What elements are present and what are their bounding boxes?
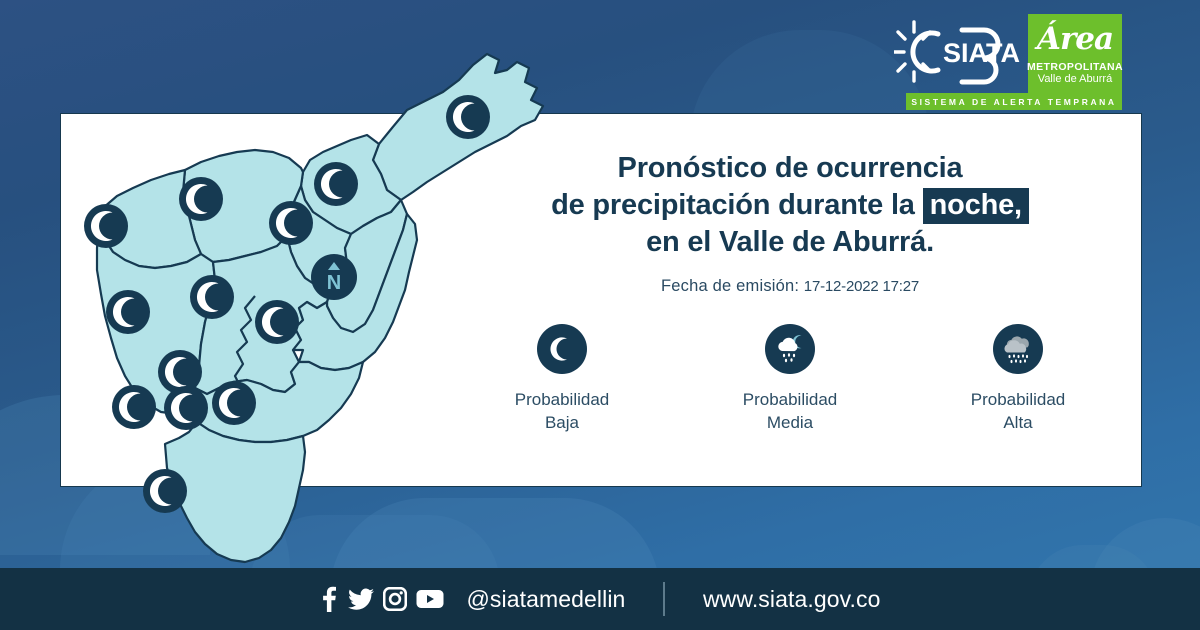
area-metropolitana-logo: Área METROPOLITANA Valle de Aburrá bbox=[1028, 14, 1122, 96]
legend-item-media: Probabilidad Media bbox=[715, 324, 865, 434]
legend-label-media: Probabilidad Media bbox=[743, 388, 838, 434]
twitter-icon[interactable] bbox=[348, 586, 374, 612]
probability-legend: Probabilidad Baja bbox=[470, 324, 1110, 434]
infographic-canvas: SIATA Área METROPOLITANA Valle de Aburrá… bbox=[0, 0, 1200, 630]
legend-label-line1: Probabilidad bbox=[743, 388, 838, 411]
map-marker-copacabana[interactable] bbox=[269, 201, 313, 245]
siata-logo: SIATA bbox=[894, 14, 1022, 92]
legend-label-line1: Probabilidad bbox=[971, 388, 1066, 411]
title-highlight-noche: noche, bbox=[923, 188, 1029, 224]
svg-text:SIATA: SIATA bbox=[943, 38, 1020, 68]
issue-date-value: 17-12-2022 17:27 bbox=[804, 278, 919, 295]
title-line-1: Pronóstico de ocurrencia bbox=[470, 150, 1110, 187]
social-handle[interactable]: @siatamedellin bbox=[466, 586, 625, 613]
title-line-2: de precipitación durante la noche, bbox=[470, 187, 1110, 224]
social-icon-group bbox=[319, 586, 444, 612]
compass-label: N bbox=[327, 272, 341, 294]
siata-tagline-banner: SISTEMA DE ALERTA TEMPRANA bbox=[906, 93, 1122, 110]
legend-label-line2: Media bbox=[743, 411, 838, 434]
moon-icon bbox=[537, 324, 587, 374]
map-marker-la-estrella[interactable] bbox=[164, 386, 208, 430]
youtube-icon[interactable] bbox=[416, 588, 444, 610]
map-marker-girardota[interactable] bbox=[314, 162, 358, 206]
logo-group: SIATA Área METROPOLITANA Valle de Aburrá bbox=[894, 14, 1122, 96]
cloud-rain-moon-icon bbox=[765, 324, 815, 374]
forecast-panel: Pronóstico de ocurrencia de precipitació… bbox=[470, 150, 1110, 470]
cloud-heavy-rain-icon bbox=[993, 324, 1043, 374]
legend-label-baja: Probabilidad Baja bbox=[515, 388, 610, 434]
website-url[interactable]: www.siata.gov.co bbox=[703, 586, 881, 613]
map-marker-san-pedro[interactable] bbox=[84, 204, 128, 248]
title-line-2-text: de precipitación durante la bbox=[551, 189, 923, 221]
legend-item-baja: Probabilidad Baja bbox=[487, 324, 637, 434]
footer-bar: @siatamedellin www.siata.gov.co bbox=[0, 568, 1200, 630]
facebook-icon[interactable] bbox=[319, 586, 339, 612]
legend-label-line2: Baja bbox=[515, 411, 610, 434]
issue-date-label: Fecha de emisión: bbox=[661, 277, 799, 295]
map-marker-estrella-este[interactable] bbox=[212, 381, 256, 425]
compass-rose: N bbox=[311, 254, 357, 300]
area-logo-line2: Valle de Aburrá bbox=[1038, 73, 1112, 86]
title-line-3: en el Valle de Aburrá. bbox=[470, 224, 1110, 261]
map-marker-medellin[interactable] bbox=[190, 275, 234, 319]
map-marker-sabaneta[interactable] bbox=[112, 385, 156, 429]
page-title: Pronóstico de ocurrencia de precipitació… bbox=[470, 150, 1110, 261]
footer-divider bbox=[663, 582, 665, 616]
map-marker-bello[interactable] bbox=[179, 177, 223, 221]
area-logo-script: Área bbox=[1037, 17, 1113, 61]
map-marker-medellin-oeste[interactable] bbox=[106, 290, 150, 334]
legend-label-alta: Probabilidad Alta bbox=[971, 388, 1066, 434]
map-marker-barbosa[interactable] bbox=[446, 95, 490, 139]
issue-date-row: Fecha de emisión: 17-12-2022 17:27 bbox=[470, 277, 1110, 296]
legend-label-line1: Probabilidad bbox=[515, 388, 610, 411]
legend-label-line2: Alta bbox=[971, 411, 1066, 434]
legend-item-alta: Probabilidad Alta bbox=[943, 324, 1093, 434]
siata-tagline-text: SISTEMA DE ALERTA TEMPRANA bbox=[911, 97, 1116, 107]
map-marker-envigado[interactable] bbox=[255, 300, 299, 344]
map-marker-caldas[interactable] bbox=[143, 469, 187, 513]
instagram-icon[interactable] bbox=[383, 587, 407, 611]
area-logo-line1: METROPOLITANA bbox=[1027, 61, 1123, 73]
